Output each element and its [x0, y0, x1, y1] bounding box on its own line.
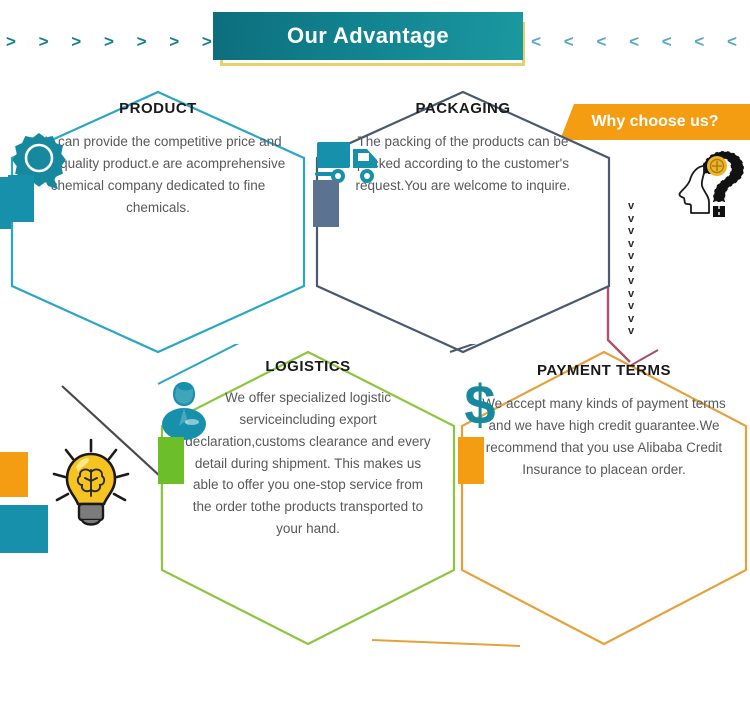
accent-block-orange: [0, 452, 28, 497]
card-title: PRODUCT: [119, 100, 197, 117]
page-title: Our Advantage: [287, 23, 449, 49]
card-accent-tab-product: [8, 175, 34, 222]
hex-overlap-strokes: [150, 344, 610, 664]
card-packaging[interactable]: PACKAGING The packing of the products ca…: [313, 88, 613, 356]
header-banner: Our Advantage: [213, 12, 523, 60]
infographic-canvas: > > > > > > > > > > > > > < < < < < < < …: [0, 0, 750, 703]
card-product[interactable]: PRODUCT We can provide the competitive p…: [8, 88, 308, 356]
accent-block-teal-bottom: [0, 505, 48, 553]
head-question-mark-icon: [668, 136, 750, 218]
chevron-down-icon: v: [628, 200, 634, 213]
card-accent-tab-packaging: [313, 180, 339, 227]
card-title: PACKAGING: [415, 100, 510, 117]
